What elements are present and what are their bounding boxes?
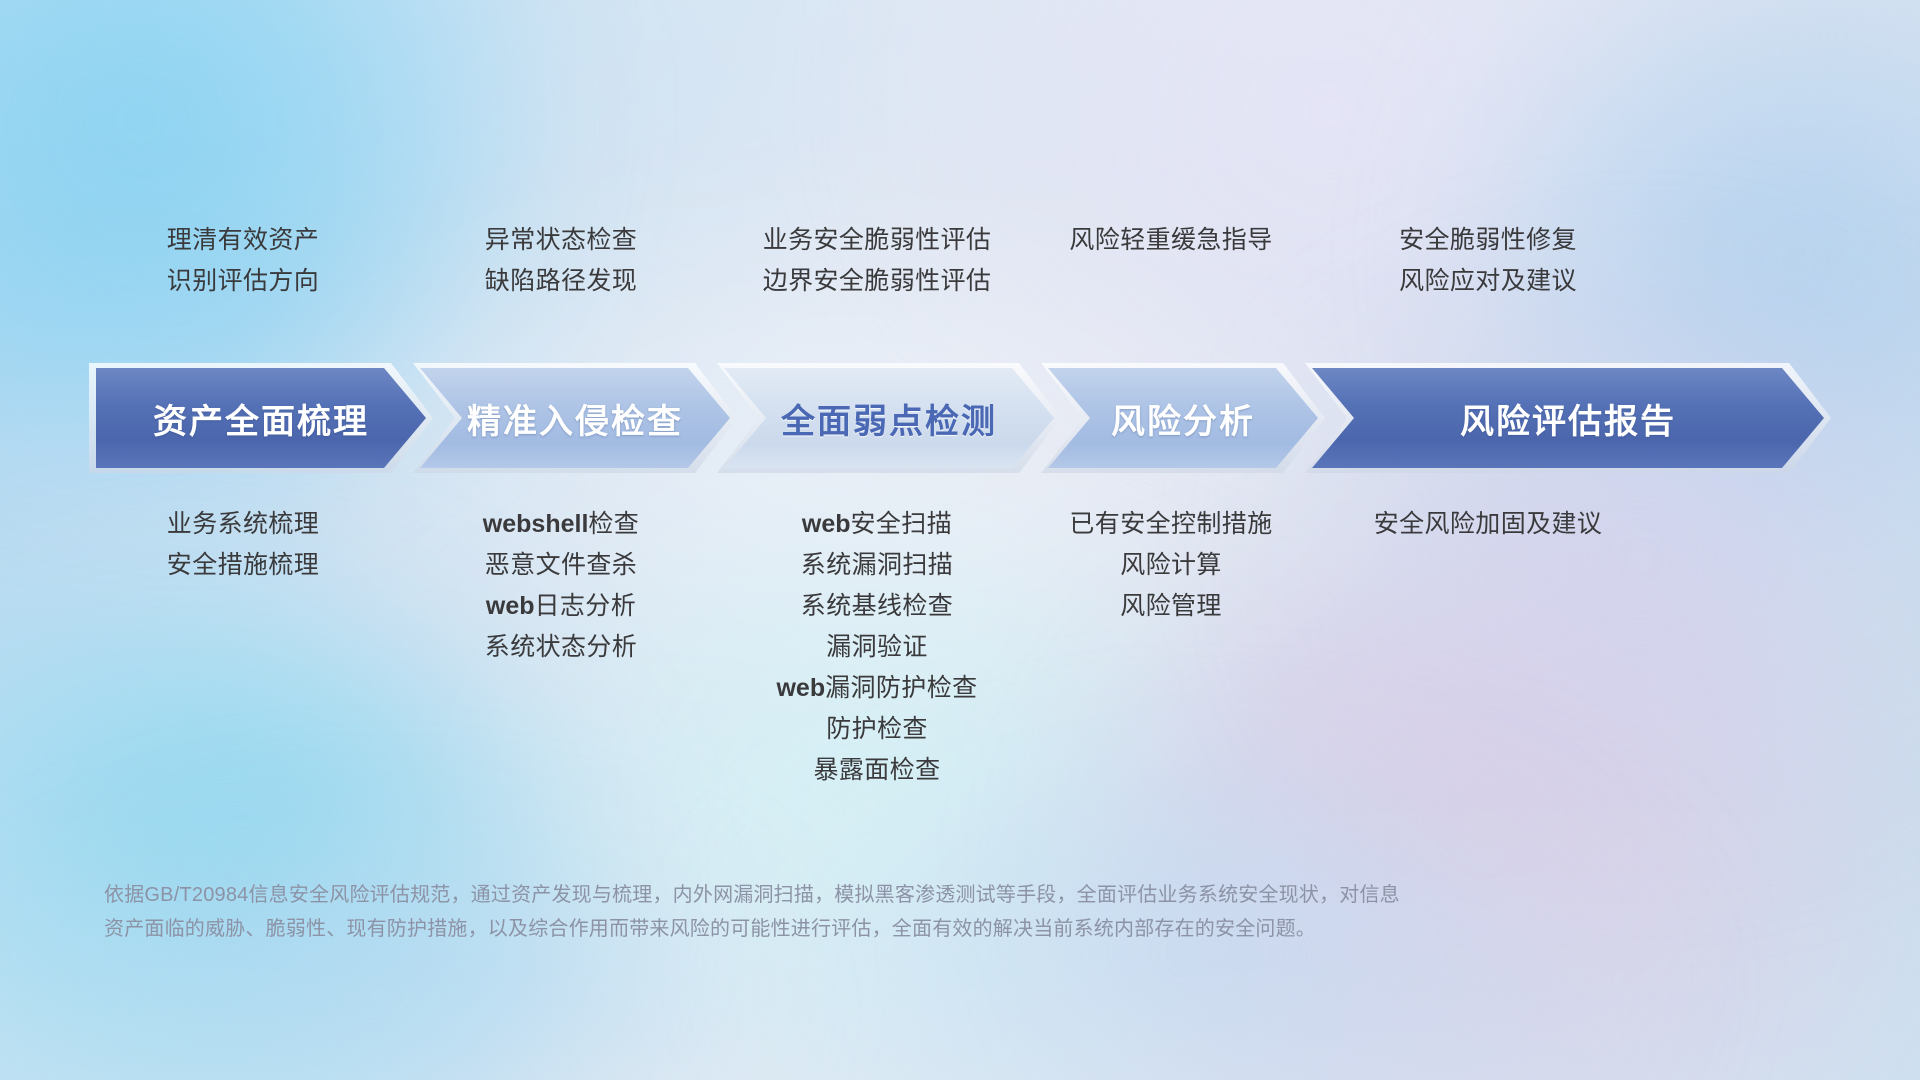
top-caption-line: 缺陷路径发现 (485, 269, 637, 294)
bottom-caption-item: 恶意文件查杀 (485, 553, 637, 578)
bottom-caption-item: 风险管理 (1120, 594, 1222, 619)
top-caption-line: 边界安全脆弱性评估 (763, 269, 992, 294)
chevron-label-4: 风险分析 (1111, 394, 1255, 443)
top-caption-line: 理清有效资产 (167, 228, 319, 253)
bottom-caption-item: 系统漏洞扫描 (801, 553, 953, 578)
top-caption-stack-1: 理清有效资产识别评估方向 (167, 228, 319, 294)
bottom-caption-item: 系统状态分析 (485, 635, 637, 660)
process-chevron-band: 资产全面梳理精准入侵检查全面弱点检测风险分析风险评估报告 (0, 368, 1920, 468)
bottom-caption-item-zh: 安全扫描 (851, 510, 953, 538)
bottom-caption-item-en: web (486, 592, 535, 620)
bottom-caption-item: 漏洞验证 (826, 635, 928, 660)
top-caption-line: 风险应对及建议 (1399, 269, 1577, 294)
bottom-caption-item: 已有安全控制措施 (1069, 512, 1272, 537)
bottom-caption-item-zh: 安全措施梳理 (167, 551, 319, 579)
bottom-caption-item: web安全扫描 (802, 512, 952, 537)
bottom-caption-item-zh: 检查 (588, 510, 639, 538)
bottom-caption-item-zh: 日志分析 (535, 592, 637, 620)
top-caption-line: 安全脆弱性修复 (1399, 228, 1577, 253)
bottom-caption-item-zh: 恶意文件查杀 (485, 551, 637, 579)
bottom-caption-item-zh: 系统状态分析 (485, 633, 637, 661)
chevron-step-2[interactable]: 精准入侵检查 (420, 368, 730, 468)
top-caption-stack-3: 业务安全脆弱性评估边界安全脆弱性评估 (763, 228, 992, 294)
bottom-caption-item-zh: 已有安全控制措施 (1069, 510, 1272, 538)
bottom-caption-item-zh: 系统漏洞扫描 (801, 551, 953, 579)
bottom-caption-column-4: 已有安全控制措施风险计算风险管理 (1069, 512, 1272, 619)
bottom-caption-item-zh: 防护检查 (826, 715, 928, 743)
bottom-caption-item: 安全措施梳理 (167, 553, 319, 578)
bottom-caption-item-zh: 风险计算 (1120, 551, 1222, 579)
top-caption-line: 风险轻重缓急指导 (1069, 228, 1272, 253)
bottom-caption-item: 安全风险加固及建议 (1374, 512, 1603, 537)
chevron-step-3[interactable]: 全面弱点检测 (724, 368, 1054, 468)
bottom-caption-item-zh: 安全风险加固及建议 (1374, 510, 1603, 538)
footer-line-2: 资产面临的威胁、脆弱性、现有防护措施，以及综合作用而带来风险的可能性进行评估，全… (104, 912, 1744, 946)
top-caption-line: 识别评估方向 (167, 269, 319, 294)
top-caption-stack-5: 安全脆弱性修复风险应对及建议 (1399, 228, 1577, 294)
bottom-caption-item: web漏洞防护检查 (776, 676, 977, 701)
bottom-caption-item: 系统基线检查 (801, 594, 953, 619)
chevron-label-2: 精准入侵检查 (467, 394, 683, 443)
footer-line-1: 依据GB/T20984信息安全风险评估规范，通过资产发现与梳理，内外网漏洞扫描，… (104, 878, 1744, 912)
chevron-label-1: 资产全面梳理 (153, 394, 369, 443)
bottom-caption-item-zh: 业务系统梳理 (167, 510, 319, 538)
chevron-label-5: 风险评估报告 (1460, 394, 1676, 443)
bottom-caption-item-en: web (776, 674, 825, 702)
bottom-caption-item-en: webshell (483, 510, 589, 538)
top-caption-row: 理清有效资产识别评估方向异常状态检查缺陷路径发现业务安全脆弱性评估边界安全脆弱性… (0, 228, 1920, 340)
bottom-caption-item-zh: 系统基线检查 (801, 592, 953, 620)
bottom-caption-item-zh: 风险管理 (1120, 592, 1222, 620)
chevron-step-5[interactable]: 风险评估报告 (1312, 368, 1824, 468)
chevron-label-3: 全面弱点检测 (781, 394, 997, 443)
bottom-caption-item-en: web (802, 510, 851, 538)
bottom-caption-column-2: webshell检查恶意文件查杀web日志分析系统状态分析 (483, 512, 639, 660)
top-caption-line: 异常状态检查 (485, 228, 637, 253)
bottom-caption-item: 风险计算 (1120, 553, 1222, 578)
bottom-caption-column-1: 业务系统梳理安全措施梳理 (167, 512, 319, 578)
bottom-caption-item: 业务系统梳理 (167, 512, 319, 537)
bottom-caption-item: 暴露面检查 (813, 758, 940, 783)
bottom-caption-column-5: 安全风险加固及建议 (1374, 512, 1603, 537)
top-caption-stack-4: 风险轻重缓急指导 (1069, 228, 1272, 253)
bottom-caption-item-zh: 暴露面检查 (813, 756, 940, 784)
footer-note: 依据GB/T20984信息安全风险评估规范，通过资产发现与梳理，内外网漏洞扫描，… (104, 878, 1744, 946)
bottom-caption-item: webshell检查 (483, 512, 639, 537)
bottom-caption-item-zh: 漏洞防护检查 (825, 674, 977, 702)
top-caption-stack-2: 异常状态检查缺陷路径发现 (485, 228, 637, 294)
top-caption-line: 业务安全脆弱性评估 (763, 228, 992, 253)
chevron-step-1[interactable]: 资产全面梳理 (96, 368, 426, 468)
slide-canvas: 理清有效资产识别评估方向异常状态检查缺陷路径发现业务安全脆弱性评估边界安全脆弱性… (0, 0, 1920, 1080)
bottom-caption-item: 防护检查 (826, 717, 928, 742)
bottom-caption-item: web日志分析 (486, 594, 636, 619)
bottom-caption-column-3: web安全扫描系统漏洞扫描系统基线检查漏洞验证web漏洞防护检查防护检查暴露面检… (776, 512, 977, 783)
bottom-caption-item-zh: 漏洞验证 (826, 633, 928, 661)
